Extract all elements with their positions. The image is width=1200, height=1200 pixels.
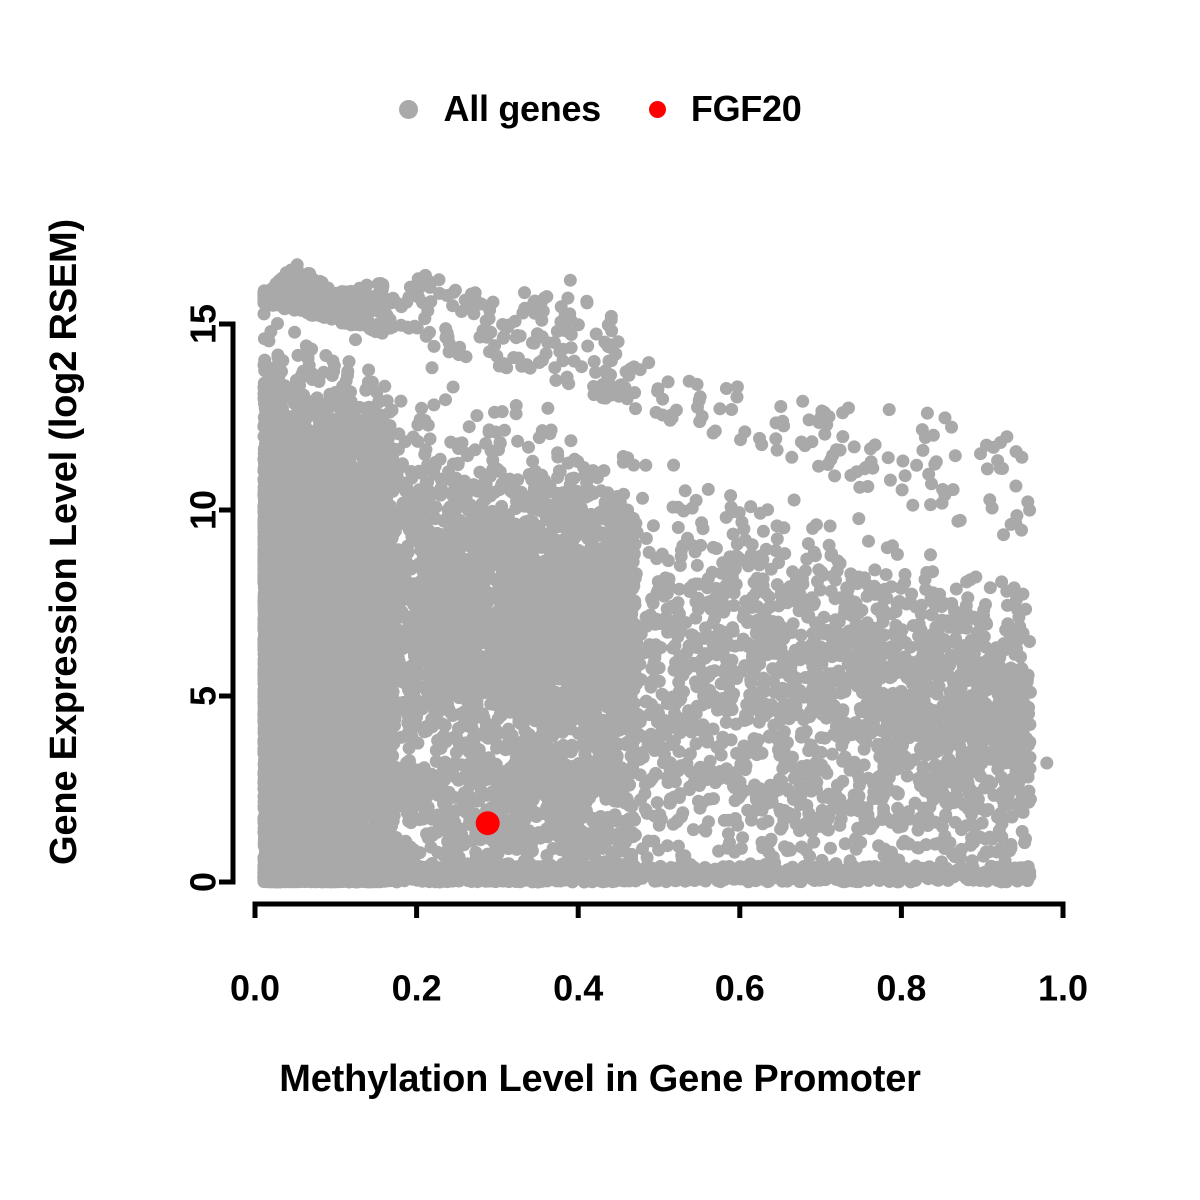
- x-tick-label: 0.4: [553, 967, 603, 1008]
- x-tick-label: 1.0: [1038, 967, 1088, 1008]
- x-tick-label: 0.2: [392, 967, 442, 1008]
- x-tick-label: 0.0: [230, 967, 280, 1008]
- y-tick-label: 5: [183, 686, 224, 706]
- x-axis-tick-labels: 0.00.20.40.60.81.0: [230, 967, 1088, 1008]
- x-tick-label: 0.6: [715, 967, 765, 1008]
- fgf20-data-point: [476, 811, 500, 835]
- x-axis-line: [255, 904, 1063, 918]
- x-tick-label: 0.8: [876, 967, 926, 1008]
- plot-canvas: 051015 0.00.20.40.60.81.0: [0, 0, 1200, 1200]
- y-tick-label: 10: [183, 490, 224, 530]
- scatter-plot-figure: All genes FGF20 Gene Expression Level (l…: [0, 0, 1200, 1200]
- y-axis-line: [219, 324, 233, 882]
- y-tick-label: 15: [183, 304, 224, 344]
- y-axis-tick-labels: 051015: [183, 304, 224, 892]
- scatter-points-all-genes: [257, 258, 1053, 888]
- scatter-point-fgf20: [476, 811, 500, 835]
- y-tick-label: 0: [183, 872, 224, 892]
